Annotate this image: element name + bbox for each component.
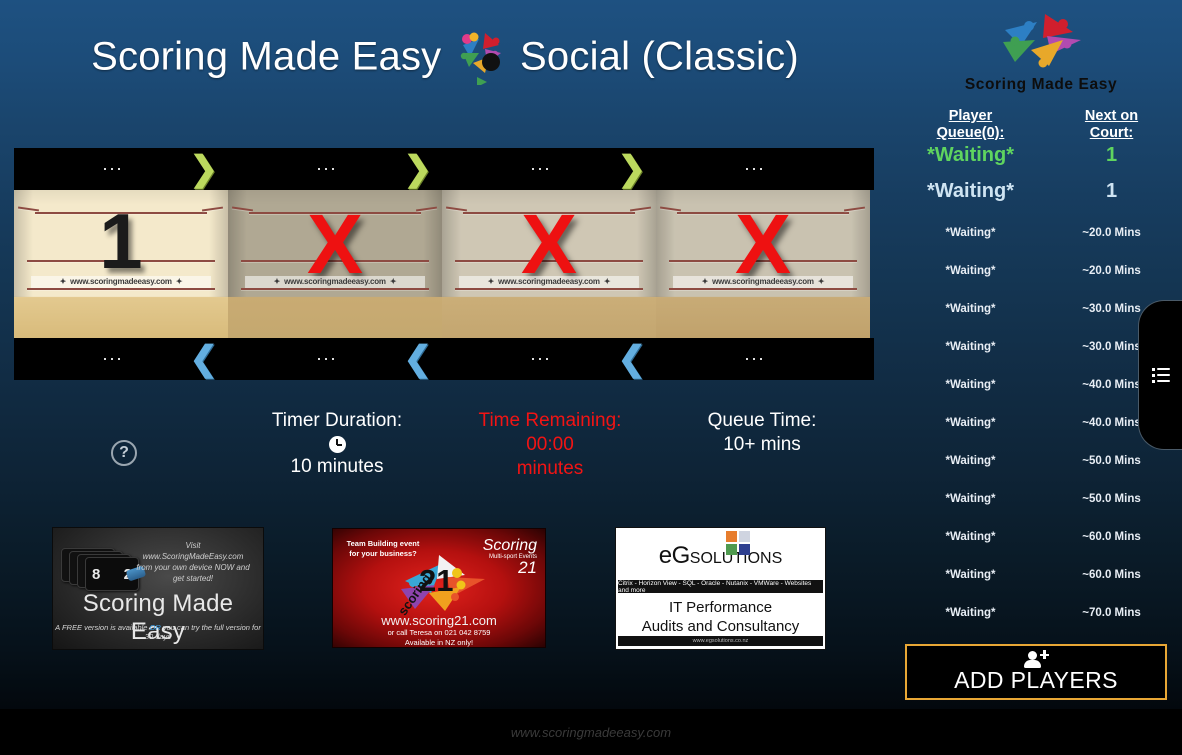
court-tile[interactable]: X ✦ www.scoringmadeeasy.com ✦	[228, 190, 442, 338]
watermark-logo-icon: ✦	[274, 277, 281, 286]
queue-player-name: *Waiting*	[900, 417, 1041, 429]
timer-duration-label: Timer Duration:	[244, 408, 430, 433]
queue-next-on-court: ~60.0 Mins	[1041, 569, 1182, 581]
queue-next-on-court: 1	[1041, 144, 1182, 167]
court-tile[interactable]: X ✦ www.scoringmadeeasy.com ✦	[442, 190, 656, 338]
people-star-logo-icon	[455, 23, 507, 85]
queue-player-name: *Waiting*	[900, 455, 1041, 467]
court-next-dots: ...	[744, 160, 765, 168]
brand-name: Scoring Made Easy	[906, 76, 1176, 94]
ad1-score-left: 8	[92, 566, 100, 583]
queue-row[interactable]: *Waiting* ~60.0 Mins	[900, 556, 1182, 594]
watermark-text: www.scoringmadeeasy.com	[498, 277, 600, 286]
queue-player-name: *Waiting*	[900, 341, 1041, 353]
time-remaining-label: Time Remaining:	[460, 408, 640, 433]
queue-player-name: *Waiting*	[900, 227, 1041, 239]
queue-next-on-court: ~20.0 Mins	[1041, 227, 1182, 239]
chevron-right-icon[interactable]: ❯	[404, 152, 433, 186]
court-next-dots: ...	[316, 160, 337, 168]
add-players-button[interactable]: ADD PLAYERS	[905, 644, 1167, 700]
timer-duration-value: 10 minutes	[244, 455, 430, 479]
queue-next-on-court: ~20.0 Mins	[1041, 265, 1182, 277]
queue-player-name: *Waiting*	[900, 379, 1041, 391]
queue-header-row: Player Queue(0): Next on Court:	[900, 108, 1182, 142]
court-prev-control[interactable]: ... ❮	[228, 338, 442, 380]
ad2-url: www.scoring21.com	[333, 613, 545, 628]
timer-status-bar: Timer Duration: 10 minutes Time Remainin…	[0, 408, 890, 498]
clock-icon	[329, 436, 346, 453]
court-prev-dots: ...	[530, 350, 551, 358]
queue-next-on-court: ~70.0 Mins	[1041, 607, 1182, 619]
queue-row[interactable]: *Waiting* ~50.0 Mins	[900, 480, 1182, 518]
queue-header-player: Player Queue(0):	[900, 108, 1041, 142]
court-prev-control[interactable]: ... ❮	[442, 338, 656, 380]
ad3-logo-text: eGSOLUTIONS	[659, 542, 783, 569]
court-watermark: ✦ www.scoringmadeeasy.com ✦	[31, 276, 211, 288]
queue-player-name: *Waiting*	[900, 569, 1041, 581]
watermark-logo-icon: ✦	[604, 277, 611, 286]
watermark-logo-icon: ✦	[702, 277, 709, 286]
ad3-tech-bar: Citrix - Horizon View - SQL - Oracle - N…	[618, 580, 823, 593]
time-remaining-units: minutes	[460, 457, 640, 481]
queue-row[interactable]: *Waiting* 1	[900, 142, 1182, 168]
courts-next-strip: ... ❯ ... ❯ ... ❯ ...	[14, 148, 874, 190]
court-watermark: ✦ www.scoringmadeeasy.com ✦	[673, 276, 853, 288]
court-next-dots: ...	[530, 160, 551, 168]
queue-player-name: *Waiting*	[900, 144, 1041, 167]
brand-logo-block: Scoring Made Easy	[906, 6, 1176, 94]
court-tile[interactable]: X ✦ www.scoringmadeeasy.com ✦	[656, 190, 870, 338]
add-players-label: ADD PLAYERS	[954, 667, 1118, 694]
chevron-left-icon[interactable]: ❮	[618, 342, 647, 376]
page-title-left: Scoring Made Easy	[91, 35, 441, 79]
court-next-control[interactable]: ...	[656, 148, 870, 190]
queue-player-name: *Waiting*	[900, 265, 1041, 277]
watermark-text: www.scoringmadeeasy.com	[712, 277, 814, 286]
ad1-visit-text: Visit www.ScoringMadeEasy.com from your …	[133, 540, 253, 584]
chevron-right-icon[interactable]: ❯	[618, 152, 647, 186]
ad2-contact: or call Teresa on 021 042 8759 Available…	[333, 628, 545, 648]
watermark-logo-icon: ✦	[818, 277, 825, 286]
ad3-url: www.egsolutions.co.nz	[618, 636, 823, 646]
queue-next-on-court: ~50.0 Mins	[1041, 455, 1182, 467]
watermark-logo-icon: ✦	[488, 277, 495, 286]
add-person-icon	[1023, 651, 1049, 668]
court-next-control[interactable]: ... ❯	[228, 148, 442, 190]
court-status-mark: 1	[14, 202, 228, 280]
side-menu-tab[interactable]	[1138, 300, 1182, 450]
watermark-text: www.scoringmadeeasy.com	[284, 277, 386, 286]
court-line	[27, 288, 215, 290]
queue-row[interactable]: *Waiting* ~20.0 Mins	[900, 214, 1182, 252]
queue-row[interactable]: *Waiting* ~50.0 Mins	[900, 442, 1182, 480]
ad3-tagline: IT Performance Audits and Consultancy	[616, 598, 825, 636]
ad-banner-eg-solutions[interactable]: eGSOLUTIONS Citrix - Horizon View - SQL …	[615, 527, 826, 650]
court-tile[interactable]: 1 ✦ www.scoringmadeeasy.com ✦	[14, 190, 228, 338]
court-next-control[interactable]: ... ❯	[14, 148, 228, 190]
court-status-mark: X	[656, 202, 870, 286]
watermark-text: www.scoringmadeeasy.com	[70, 277, 172, 286]
queue-player-name: *Waiting*	[900, 607, 1041, 619]
court-watermark: ✦ www.scoringmadeeasy.com ✦	[459, 276, 639, 288]
time-remaining-value: 00:00	[460, 433, 640, 457]
timer-duration-block: Timer Duration: 10 minutes	[244, 408, 430, 479]
watermark-logo-icon: ✦	[60, 277, 67, 286]
court-watermark: ✦ www.scoringmadeeasy.com ✦	[245, 276, 425, 288]
people-star-logo-icon	[993, 8, 1089, 74]
ad-banner-scoring21[interactable]: Team Building event for your business? S…	[332, 528, 546, 648]
court-prev-control[interactable]: ...	[656, 338, 870, 380]
court-status-mark: X	[228, 202, 442, 286]
court-status-mark: X	[442, 202, 656, 286]
queue-time-block: Queue Time: 10+ mins	[676, 408, 848, 457]
courts-panel: ... ❯ ... ❯ ... ❯ ... 1 ✦ www.sc	[14, 148, 874, 380]
footer-bar: www.scoringmadeeasy.com	[0, 709, 1182, 755]
queue-next-on-court: ~60.0 Mins	[1041, 531, 1182, 543]
queue-row[interactable]: *Waiting* ~70.0 Mins	[900, 594, 1182, 632]
queue-player-name: *Waiting*	[900, 493, 1041, 505]
court-next-dots: ...	[102, 160, 123, 168]
queue-player-name: *Waiting*	[900, 303, 1041, 315]
court-next-control[interactable]: ... ❯	[442, 148, 656, 190]
queue-row[interactable]: *Waiting* 1	[900, 168, 1182, 214]
chevron-right-icon[interactable]: ❯	[190, 152, 219, 186]
list-menu-icon	[1152, 368, 1170, 382]
queue-header-next-on-court: Next on Court:	[1041, 108, 1182, 142]
queue-player-name: *Waiting*	[900, 531, 1041, 543]
page-title: Scoring Made Easy Social (Classic)	[0, 26, 890, 88]
time-remaining-block: Time Remaining: 00:00 minutes	[460, 408, 640, 481]
court-prev-dots: ...	[316, 350, 337, 358]
ad-banner-scoring-made-easy[interactable]: 8 2 Visit www.ScoringMadeEasy.com from y…	[52, 527, 264, 650]
queue-row[interactable]: *Waiting* ~60.0 Mins	[900, 518, 1182, 556]
queue-next-on-court: 1	[1041, 180, 1182, 203]
chevron-left-icon[interactable]: ❮	[404, 342, 433, 376]
queue-next-on-court: ~50.0 Mins	[1041, 493, 1182, 505]
queue-time-value: 10+ mins	[676, 433, 848, 457]
court-prev-control[interactable]: ... ❮	[14, 338, 228, 380]
courts-prev-strip: ... ❮ ... ❮ ... ❮ ...	[14, 338, 874, 380]
watermark-logo-icon: ✦	[176, 277, 183, 286]
queue-row[interactable]: *Waiting* ~20.0 Mins	[900, 252, 1182, 290]
court-prev-dots: ...	[102, 350, 123, 358]
eg-squares-icon	[726, 531, 752, 557]
ad2-brand-word: Scoring	[451, 537, 537, 554]
queue-player-name: *Waiting*	[900, 180, 1041, 203]
page-title-right: Social (Classic)	[520, 35, 799, 79]
ad3-logo-row: eGSOLUTIONS	[616, 542, 825, 570]
queue-time-label: Queue Time:	[676, 408, 848, 433]
footer-url: www.scoringmadeeasy.com	[511, 725, 671, 740]
court-tiles: 1 ✦ www.scoringmadeeasy.com ✦ X ✦ www.sc…	[14, 190, 874, 338]
chevron-left-icon[interactable]: ❮	[190, 342, 219, 376]
court-prev-dots: ...	[744, 350, 765, 358]
watermark-logo-icon: ✦	[390, 277, 397, 286]
ad1-footnote: A FREE version is available OR you can t…	[53, 623, 263, 641]
